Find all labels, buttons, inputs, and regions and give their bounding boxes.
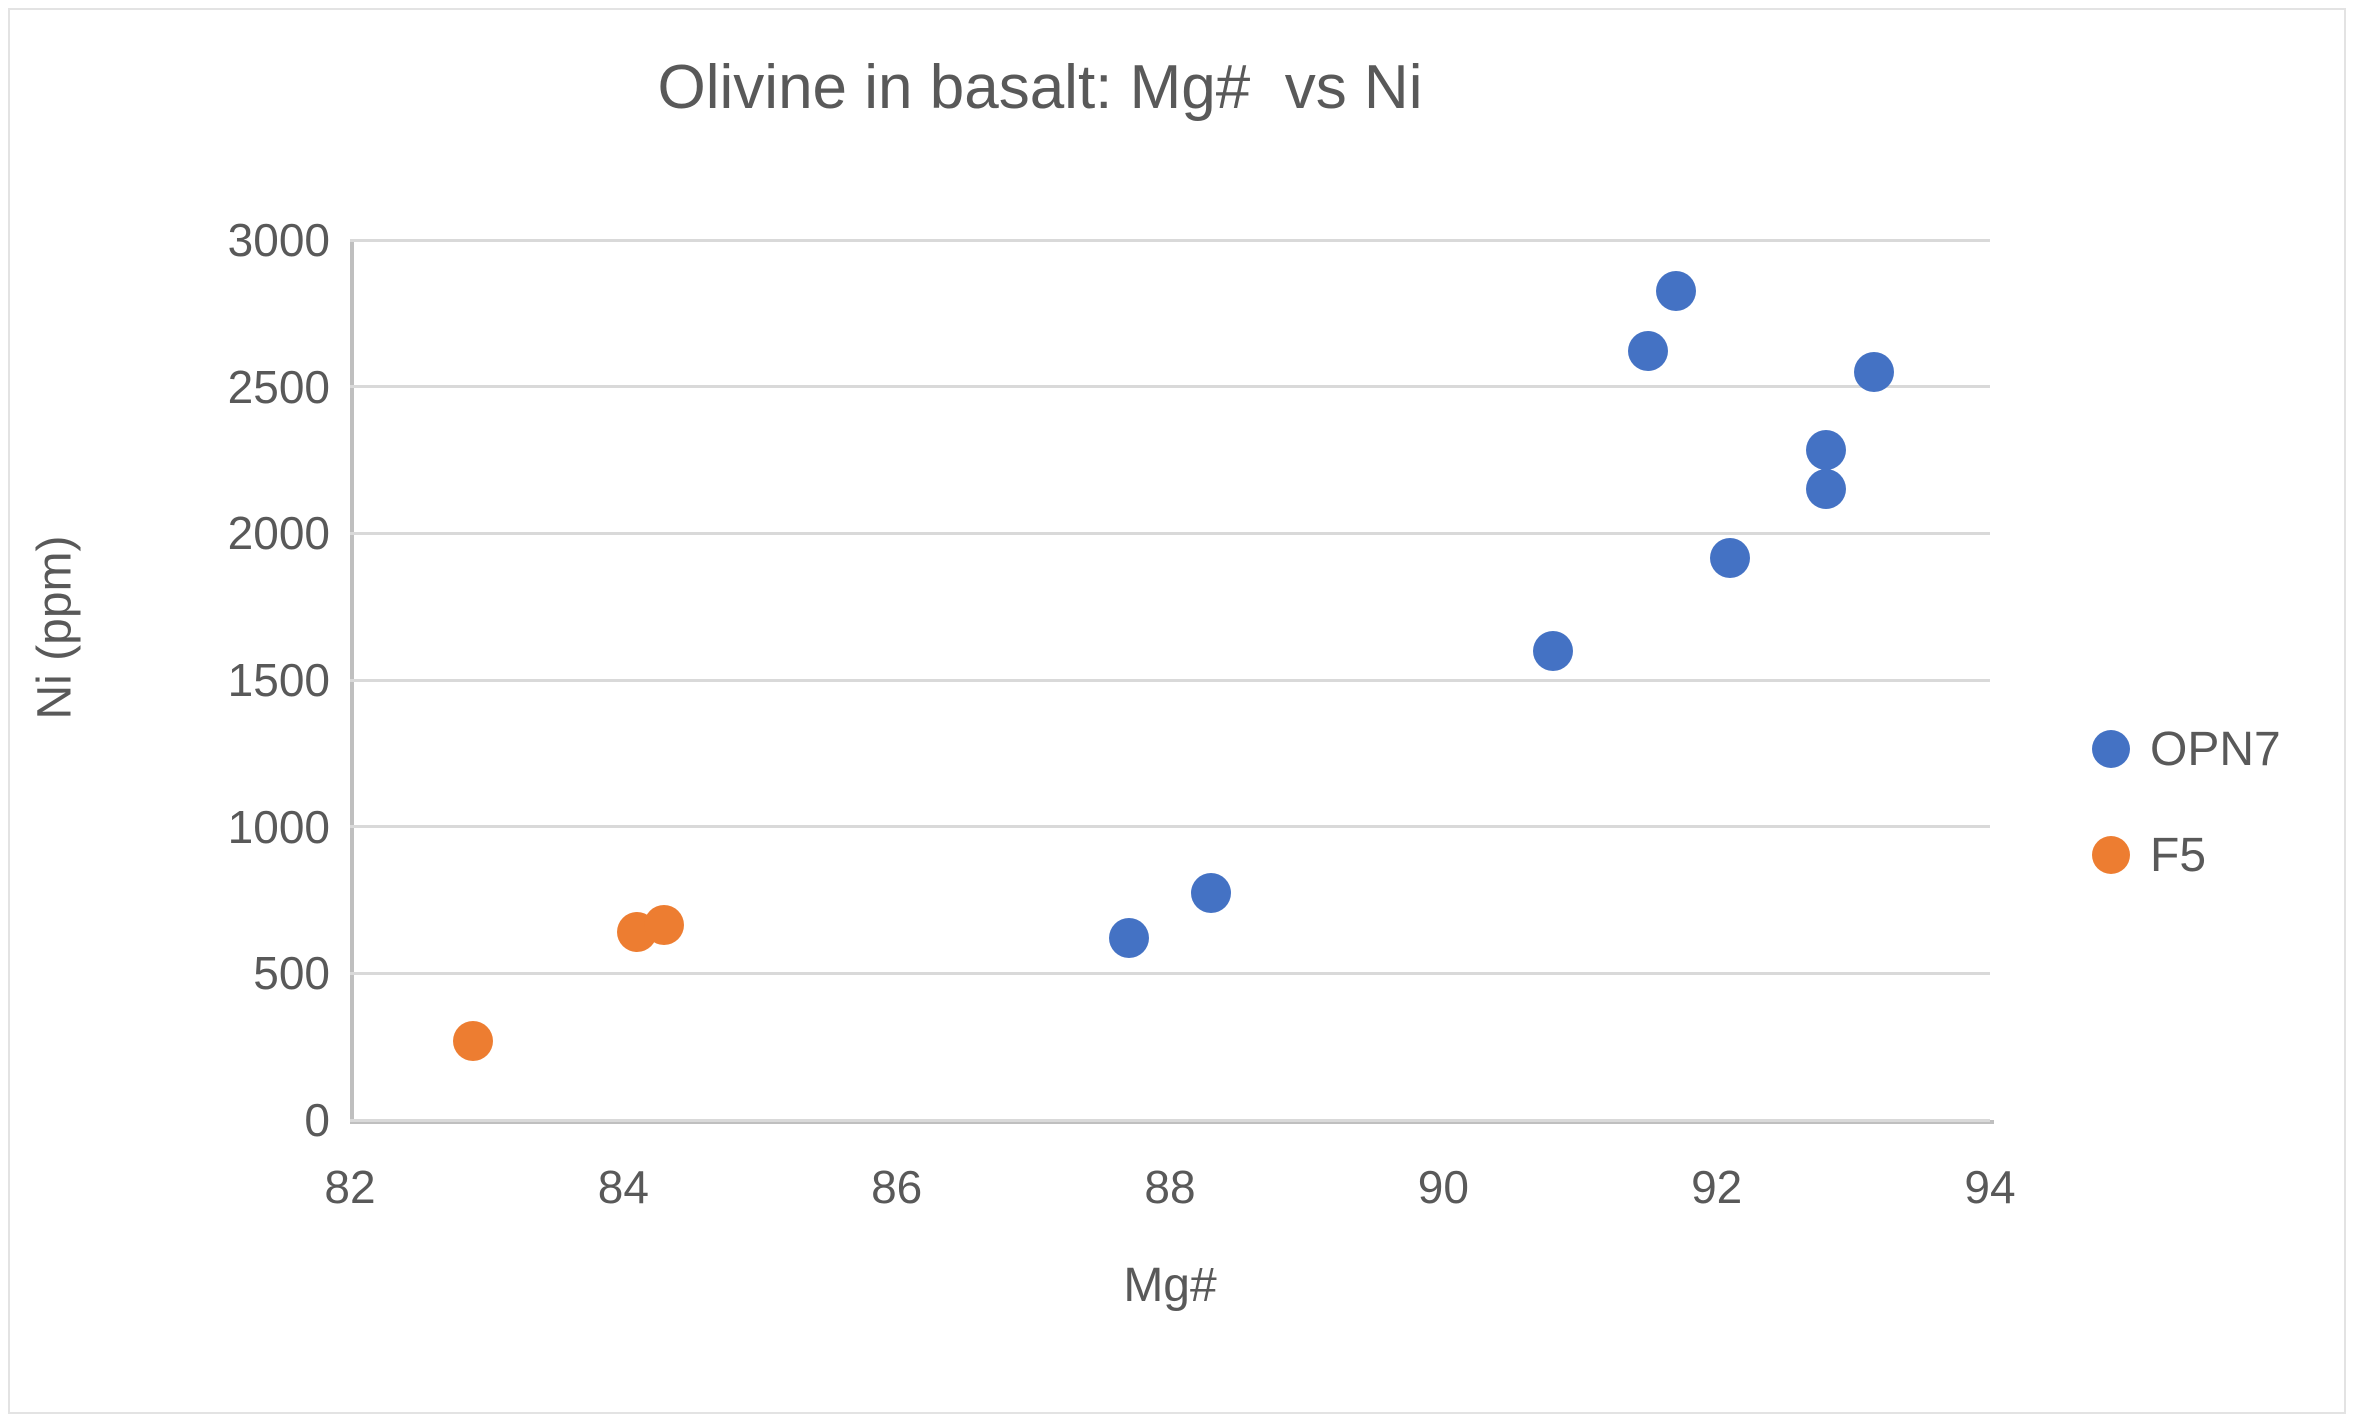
legend-item[interactable]: OPN7 <box>2092 722 2281 776</box>
data-point-marker <box>453 1021 493 1061</box>
legend-item-label: F5 <box>2150 828 2206 883</box>
y-tick-label: 1000 <box>228 800 330 854</box>
x-axis-tick-labels: 82848688909294 <box>350 1160 1990 1220</box>
data-point-marker <box>1533 631 1573 671</box>
data-point-marker <box>1628 331 1668 371</box>
data-point-marker <box>1854 352 1894 392</box>
gridline <box>350 532 1990 535</box>
scatter-chart: Olivine in basalt: Mg# vs Ni 30002500200… <box>10 10 2344 1412</box>
legend-item[interactable]: F5 <box>2092 828 2281 882</box>
x-tick-label: 84 <box>598 1160 649 1214</box>
legend-item-label: OPN7 <box>2150 722 2281 777</box>
y-tick-label: 0 <box>304 1093 330 1147</box>
data-point-marker <box>1710 538 1750 578</box>
x-tick-label: 94 <box>1964 1160 2015 1214</box>
circle-marker-icon <box>2092 730 2130 768</box>
y-axis-title: Ni (ppm) <box>28 368 83 888</box>
gridline <box>350 385 1990 388</box>
x-tick-label: 86 <box>871 1160 922 1214</box>
data-point-marker <box>1656 271 1696 311</box>
chart-title: Olivine in basalt: Mg# vs Ni <box>10 52 2070 123</box>
gridline <box>350 825 1990 828</box>
plot-area <box>350 240 1990 1120</box>
x-tick-label: 88 <box>1144 1160 1195 1214</box>
x-tick-label: 90 <box>1418 1160 1469 1214</box>
data-point-marker <box>1806 469 1846 509</box>
y-tick-label: 1500 <box>228 653 330 707</box>
y-tick-label: 3000 <box>228 213 330 267</box>
gridline <box>350 972 1990 975</box>
x-tick-label: 82 <box>324 1160 375 1214</box>
y-tick-label: 500 <box>253 946 330 1000</box>
gridline <box>350 679 1990 682</box>
circle-marker-icon <box>2092 836 2130 874</box>
x-tick-label: 92 <box>1691 1160 1742 1214</box>
data-point-marker <box>644 905 684 945</box>
data-point-marker <box>1806 430 1846 470</box>
x-axis-title: Mg# <box>350 1258 1990 1313</box>
page-frame: Olivine in basalt: Mg# vs Ni 30002500200… <box>8 8 2346 1414</box>
y-tick-label: 2500 <box>228 360 330 414</box>
y-tick-label: 2000 <box>228 506 330 560</box>
y-axis-tick-labels: 300025002000150010005000 <box>150 240 330 1120</box>
data-point-marker <box>1109 918 1149 958</box>
gridline <box>350 1119 1990 1122</box>
data-point-marker <box>1191 873 1231 913</box>
gridline <box>350 239 1990 242</box>
chart-legend: OPN7F5 <box>2092 722 2281 934</box>
